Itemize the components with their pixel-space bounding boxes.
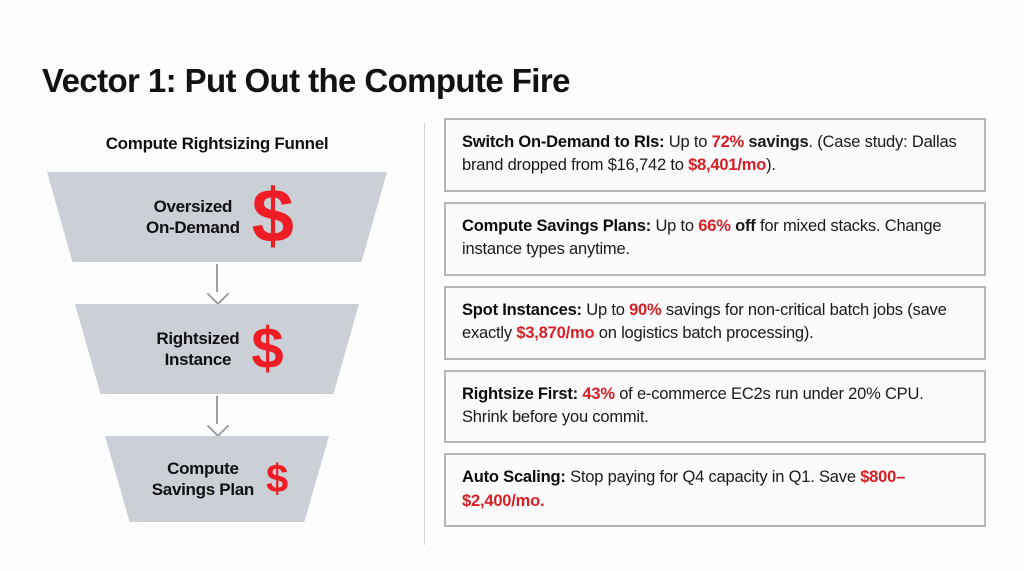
card-body-text: on logistics batch processing). (594, 324, 813, 342)
card-body-text: Up to (582, 301, 629, 319)
card-body-text: Up to (651, 217, 698, 235)
funnel-stack: Oversized On-Demand $ Rightsized Instanc… (32, 172, 402, 522)
card-title: Switch On-Demand to RIs: (462, 133, 664, 151)
dollar-sign-small-icon: $ (266, 459, 288, 499)
card-title: Auto Scaling: (462, 468, 566, 486)
recommendation-card[interactable]: Compute Savings Plans: Up to 66% off for… (444, 202, 986, 276)
recommendation-card[interactable]: Spot Instances: Up to 90% savings for no… (444, 286, 986, 360)
column-divider (424, 123, 425, 545)
card-highlight-value: 43% (582, 385, 614, 403)
card-body-text: ). (766, 156, 776, 174)
recommendation-card-list: Switch On-Demand to RIs: Up to 72% savin… (444, 118, 986, 550)
card-emphasis-text: off (731, 217, 756, 235)
funnel-heading: Compute Rightsizing Funnel (32, 134, 402, 154)
card-highlight-value: 72% (712, 133, 744, 151)
funnel-stage-label: Compute Savings Plan (152, 458, 254, 501)
funnel-panel: Compute Rightsizing Funnel Oversized On-… (32, 120, 402, 550)
funnel-stage-label: Rightsized Instance (156, 328, 239, 371)
funnel-stage-rightsized-instance[interactable]: Rightsized Instance $ (75, 304, 359, 394)
funnel-stage-oversized-on-demand[interactable]: Oversized On-Demand $ (47, 172, 387, 262)
card-title: Spot Instances: (462, 301, 582, 319)
card-highlight-value: $8,401/mo (688, 156, 766, 174)
page-title: Vector 1: Put Out the Compute Fire (42, 62, 570, 100)
recommendation-card[interactable]: Switch On-Demand to RIs: Up to 72% savin… (444, 118, 986, 192)
card-highlight-value: 90% (629, 301, 661, 319)
dollar-sign-large-icon: $ (252, 179, 294, 255)
card-emphasis-text: savings (744, 133, 808, 151)
recommendation-card[interactable]: Rightsize First: 43% of e-commerce EC2s … (444, 370, 986, 444)
funnel-stage-compute-savings-plan[interactable]: Compute Savings Plan $ (105, 436, 329, 522)
down-arrow-icon (32, 262, 402, 304)
card-body-text: Stop paying for Q4 capacity in Q1. Save (566, 468, 860, 486)
card-body-text: Up to (664, 133, 711, 151)
card-highlight-value: 66% (698, 217, 730, 235)
down-arrow-icon (32, 394, 402, 436)
card-highlight-value: $3,870/mo (516, 324, 594, 342)
funnel-stage-label: Oversized On-Demand (146, 196, 240, 239)
dollar-sign-medium-icon: $ (251, 320, 283, 378)
card-title: Rightsize First: (462, 385, 578, 403)
recommendation-card[interactable]: Auto Scaling: Stop paying for Q4 capacit… (444, 453, 986, 527)
card-title: Compute Savings Plans: (462, 217, 651, 235)
